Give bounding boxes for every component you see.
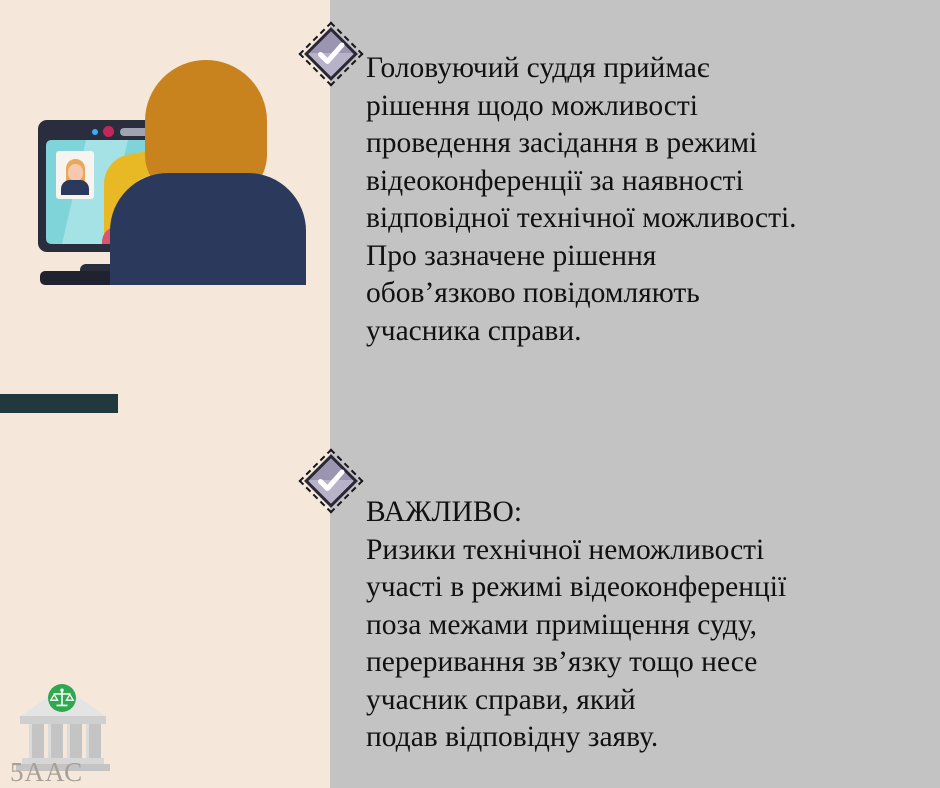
logo-column (48, 724, 63, 760)
logo-abbreviation: 5ААС (10, 757, 130, 788)
pip-person-body (61, 180, 89, 195)
logo-architrave (20, 716, 106, 724)
logo-column (86, 724, 101, 760)
person-torso (110, 173, 306, 285)
scales-of-justice-icon (48, 684, 76, 712)
check-tick-icon (312, 462, 350, 500)
logo-column (29, 724, 44, 760)
titlebar-blue-dot-icon (92, 129, 98, 135)
check-tick-icon (312, 35, 350, 73)
check-mark-diamond-icon (301, 24, 361, 84)
text-block-2: ВАЖЛИВО: Ризики технічної неможливості у… (366, 494, 926, 757)
check-mark-diamond-icon (301, 451, 361, 511)
picture-in-picture-thumbnail (56, 151, 94, 199)
pip-person-face (68, 164, 83, 181)
titlebar-record-dot-icon (103, 126, 114, 137)
text-block-1: Головуючий суддя приймає рішення щодо мо… (366, 50, 926, 350)
slide-canvas: 5ААС Головуючий суддя приймає рішення що… (0, 0, 940, 788)
videoconference-illustration (20, 40, 290, 265)
text-block-1-body: Головуючий суддя приймає рішення щодо мо… (366, 50, 926, 350)
text-block-2-body: ВАЖЛИВО: Ризики технічної неможливості у… (366, 494, 926, 757)
logo-column (67, 724, 82, 760)
accent-bar (0, 394, 118, 413)
